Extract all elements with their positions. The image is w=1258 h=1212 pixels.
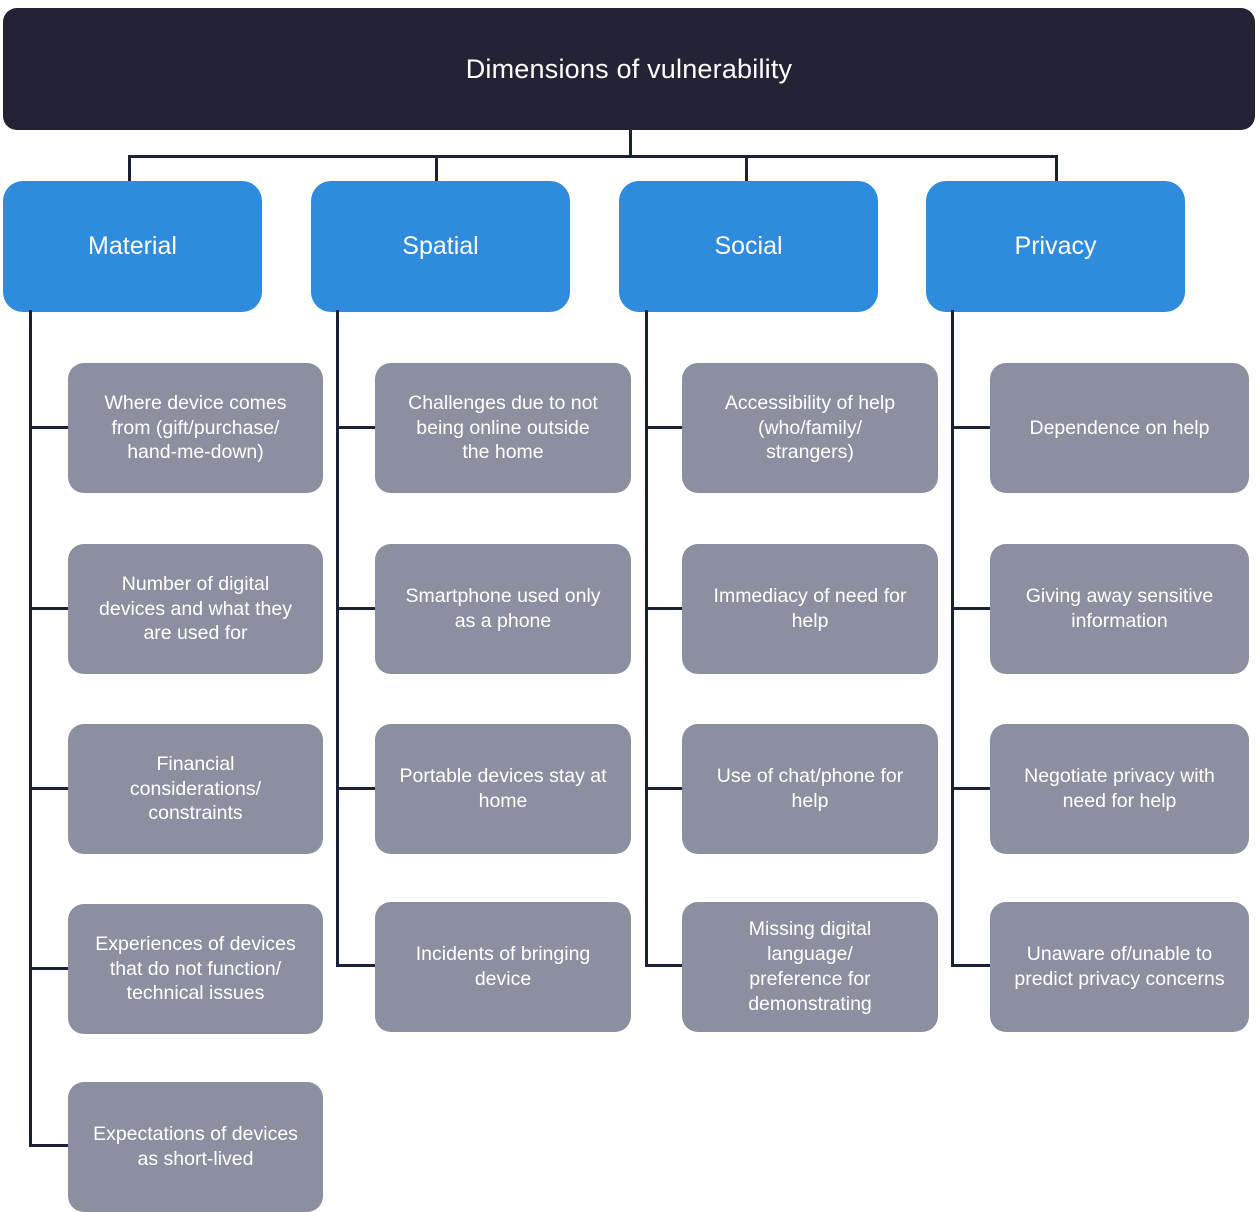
leaf-label-privacy-4: Unaware of/unable to predict privacy con… <box>1014 942 1224 992</box>
leaf-node-privacy-2[interactable]: Giving away sensitive information <box>990 544 1249 674</box>
connector-branch-material-3 <box>29 787 69 790</box>
leaf-node-social-4[interactable]: Missing digital language/ preference for… <box>682 902 938 1032</box>
root-node-dimensions-of-vulnerability[interactable]: Dimensions of vulnerability <box>3 8 1255 130</box>
leaf-node-social-1[interactable]: Accessibility of help (who/family/ stran… <box>682 363 938 493</box>
leaf-node-spatial-2[interactable]: Smartphone used only as a phone <box>375 544 631 674</box>
leaf-label-social-1: Accessibility of help (who/family/ stran… <box>725 391 895 466</box>
leaf-label-privacy-3: Negotiate privacy with need for help <box>1024 764 1215 814</box>
leaf-node-privacy-3[interactable]: Negotiate privacy with need for help <box>990 724 1249 854</box>
connector-branch-social-2 <box>645 607 685 610</box>
connector-branch-privacy-4 <box>951 964 991 967</box>
connector-trunk-privacy <box>951 310 954 967</box>
leaf-label-social-2: Immediacy of need for help <box>714 584 907 634</box>
leaf-label-material-2: Number of digital devices and what they … <box>99 572 292 647</box>
leaf-node-privacy-1[interactable]: Dependence on help <box>990 363 1249 493</box>
leaf-node-spatial-3[interactable]: Portable devices stay at home <box>375 724 631 854</box>
connector-branch-spatial-4 <box>336 964 376 967</box>
category-node-material[interactable]: Material <box>3 181 262 312</box>
connector-branch-spatial-2 <box>336 607 376 610</box>
leaf-label-privacy-2: Giving away sensitive information <box>1026 584 1214 634</box>
leaf-label-material-3: Financial considerations/ constraints <box>130 752 261 827</box>
root-node-label: Dimensions of vulnerability <box>466 54 793 85</box>
connector-branch-spatial-3 <box>336 787 376 790</box>
category-label-privacy: Privacy <box>1015 232 1097 261</box>
category-label-social: Social <box>714 232 782 261</box>
connector-trunk-social <box>645 310 648 967</box>
category-node-spatial[interactable]: Spatial <box>311 181 570 312</box>
category-label-material: Material <box>88 232 177 261</box>
category-label-spatial: Spatial <box>402 232 478 261</box>
leaf-label-social-4: Missing digital language/ preference for… <box>748 917 872 1017</box>
connector-branch-privacy-2 <box>951 607 991 610</box>
leaf-node-material-5[interactable]: Expectations of devices as short-lived <box>68 1082 323 1212</box>
connector-drop-social <box>745 155 748 183</box>
leaf-node-spatial-1[interactable]: Challenges due to not being online outsi… <box>375 363 631 493</box>
connector-branch-privacy-1 <box>951 426 991 429</box>
connector-root-stem <box>629 130 632 157</box>
leaf-label-spatial-3: Portable devices stay at home <box>399 764 606 814</box>
leaf-label-spatial-4: Incidents of bringing device <box>416 942 591 992</box>
connector-category-bus <box>128 155 1058 158</box>
leaf-node-material-1[interactable]: Where device comes from (gift/purchase/ … <box>68 363 323 493</box>
connector-trunk-material <box>29 310 32 1147</box>
connector-drop-material <box>128 155 131 183</box>
connector-branch-social-4 <box>645 964 685 967</box>
connector-branch-material-5 <box>29 1144 69 1147</box>
connector-branch-spatial-1 <box>336 426 376 429</box>
leaf-label-privacy-1: Dependence on help <box>1030 416 1210 441</box>
leaf-node-social-2[interactable]: Immediacy of need for help <box>682 544 938 674</box>
leaf-node-social-3[interactable]: Use of chat/phone for help <box>682 724 938 854</box>
org-chart-canvas: Dimensions of vulnerability Material Spa… <box>0 0 1258 1212</box>
leaf-node-privacy-4[interactable]: Unaware of/unable to predict privacy con… <box>990 902 1249 1032</box>
connector-branch-privacy-3 <box>951 787 991 790</box>
connector-branch-material-2 <box>29 607 69 610</box>
connector-branch-social-3 <box>645 787 685 790</box>
leaf-label-social-3: Use of chat/phone for help <box>717 764 903 814</box>
leaf-label-material-5: Expectations of devices as short-lived <box>93 1122 298 1172</box>
category-node-social[interactable]: Social <box>619 181 878 312</box>
leaf-label-material-1: Where device comes from (gift/purchase/ … <box>104 391 286 466</box>
connector-branch-material-4 <box>29 967 69 970</box>
leaf-node-material-4[interactable]: Experiences of devices that do not funct… <box>68 904 323 1034</box>
leaf-label-material-4: Experiences of devices that do not funct… <box>95 932 296 1007</box>
connector-trunk-spatial <box>336 310 339 967</box>
connector-branch-social-1 <box>645 426 685 429</box>
leaf-node-spatial-4[interactable]: Incidents of bringing device <box>375 902 631 1032</box>
connector-branch-material-1 <box>29 426 69 429</box>
leaf-label-spatial-1: Challenges due to not being online outsi… <box>408 391 598 466</box>
leaf-node-material-2[interactable]: Number of digital devices and what they … <box>68 544 323 674</box>
connector-drop-spatial <box>435 155 438 183</box>
connector-drop-privacy <box>1055 155 1058 183</box>
leaf-node-material-3[interactable]: Financial considerations/ constraints <box>68 724 323 854</box>
leaf-label-spatial-2: Smartphone used only as a phone <box>405 584 600 634</box>
category-node-privacy[interactable]: Privacy <box>926 181 1185 312</box>
